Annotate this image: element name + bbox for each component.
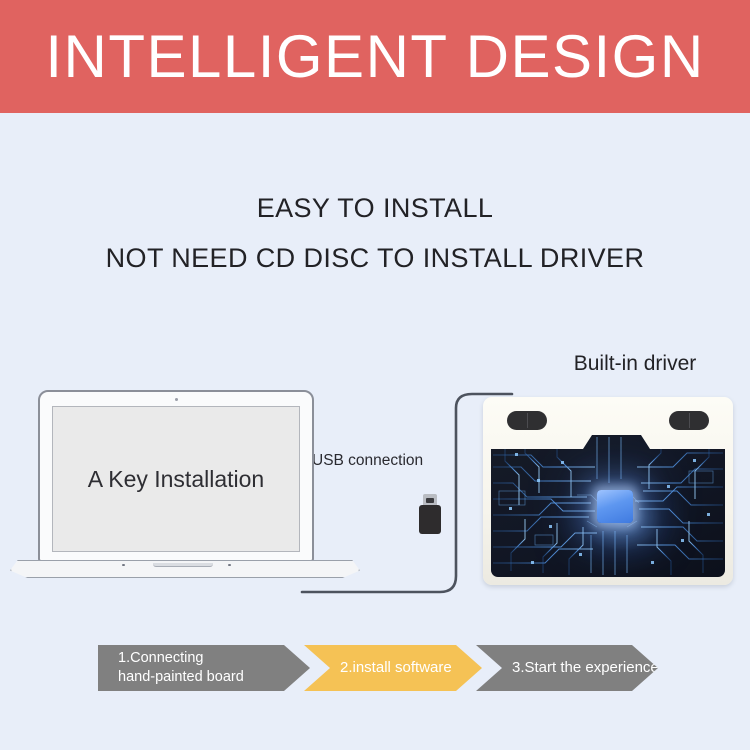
poster-canvas: INTELLIGENT DESIGN EASY TO INSTALL NOT N…	[0, 0, 750, 750]
camera-dot-icon	[175, 398, 178, 401]
usb-body	[419, 505, 441, 534]
express-key-left[interactable]	[507, 411, 547, 430]
header-banner: INTELLIGENT DESIGN	[0, 0, 750, 113]
step-label-2: 2.install software	[340, 658, 452, 677]
usb-flash-drive-icon	[419, 494, 441, 534]
laptop-screen-text: A Key Installation	[88, 466, 264, 493]
laptop-base-dot-right	[228, 564, 231, 566]
page-title: INTELLIGENT DESIGN	[45, 27, 704, 87]
step-item-2[interactable]: 2.install software	[304, 645, 482, 691]
cpu-chip-icon	[597, 490, 633, 523]
step-label-1: 1.Connecting hand-painted board	[118, 649, 244, 686]
express-key-right[interactable]	[669, 411, 709, 430]
laptop-illustration: A Key Installation	[10, 390, 360, 590]
laptop-screen: A Key Installation	[52, 406, 300, 552]
laptop-base-notch	[153, 563, 213, 567]
step-item-1[interactable]: 1.Connecting hand-painted board	[98, 645, 310, 691]
laptop-lid: A Key Installation	[38, 390, 314, 562]
step-label-3: 3.Start the experience	[512, 658, 659, 677]
step-item-3[interactable]: 3.Start the experience	[476, 645, 658, 691]
tablet-active-area	[491, 435, 725, 577]
steps-bar: 3.Start the experience 2.install softwar…	[98, 645, 658, 691]
laptop-base	[10, 560, 360, 582]
subheading-line-1: EASY TO INSTALL	[0, 193, 750, 224]
subheading-line-2: NOT NEED CD DISC TO INSTALL DRIVER	[0, 243, 750, 274]
laptop-base-dot-left	[122, 564, 125, 566]
graphics-tablet-illustration	[483, 397, 733, 585]
built-in-driver-label: Built-in driver	[520, 352, 750, 376]
